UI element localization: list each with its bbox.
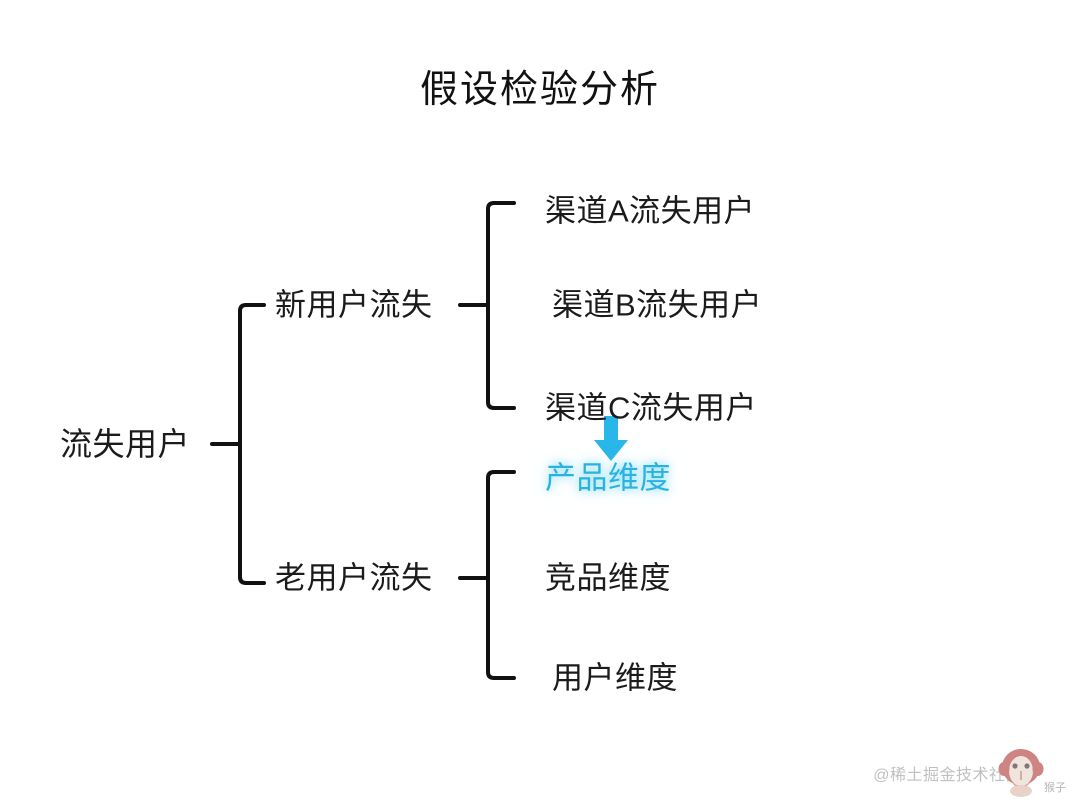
mascot-caption: 猴子 [1044,779,1066,795]
node-channel-c-churned-users[interactable]: 渠道C流失用户 [545,393,757,424]
tree-connector-lines [0,0,1080,809]
node-channel-b-churned-users[interactable]: 渠道B流失用户 [552,290,762,321]
bracket-new-user [460,203,514,408]
monkey-mascot-icon [998,747,1044,799]
bracket-old-user [460,472,514,678]
node-old-user-churn[interactable]: 老用户流失 [275,563,433,594]
node-channel-a-churned-users[interactable]: 渠道A流失用户 [545,196,755,227]
slide-canvas: 假设检验分析 流失用户 新用户流失 老用户流失 渠道A流失用户 渠道B流失用户 … [0,0,1080,809]
page-title: 假设检验分析 [0,68,1080,114]
node-user-dimension[interactable]: 用户维度 [552,663,678,694]
node-product-dimension-highlighted[interactable]: 产品维度 [545,463,671,494]
watermark: @稀土掘金技术社区 猴子 [873,747,1066,799]
node-new-user-churn[interactable]: 新用户流失 [275,290,433,321]
node-root-churned-users[interactable]: 流失用户 [60,428,190,460]
bracket-root [212,305,264,583]
node-competitor-dimension[interactable]: 竞品维度 [545,563,671,594]
